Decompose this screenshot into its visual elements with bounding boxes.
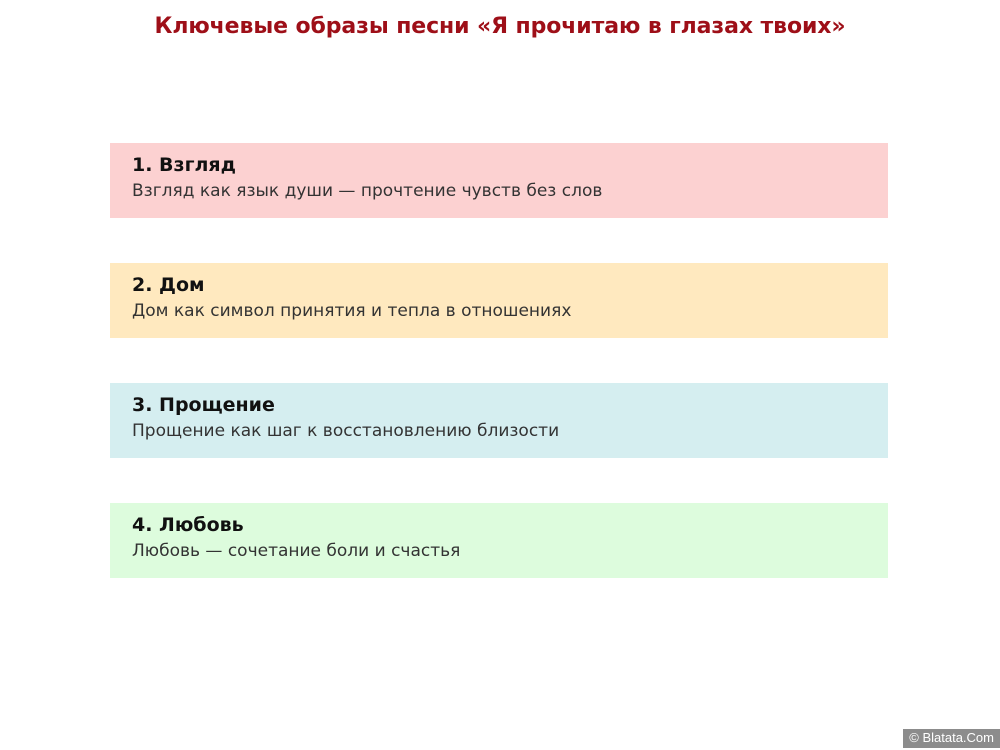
card-heading: 2. Дом xyxy=(132,273,888,297)
page-title: Ключевые образы песни «Я прочитаю в глаз… xyxy=(0,14,1000,39)
card-heading: 4. Любовь xyxy=(132,513,888,537)
list-item-lyubov[interactable]: 4. Любовь Любовь — сочетание боли и счас… xyxy=(110,503,888,578)
card-description: Взгляд как язык души — прочтение чувств … xyxy=(132,180,888,202)
list-item-vzglyad[interactable]: 1. Взгляд Взгляд как язык души — прочтен… xyxy=(110,143,888,218)
card-description: Прощение как шаг к восстановлению близос… xyxy=(132,420,888,442)
card-description: Любовь — сочетание боли и счастья xyxy=(132,540,888,562)
list-item-proshchenie[interactable]: 3. Прощение Прощение как шаг к восстанов… xyxy=(110,383,888,458)
slide-canvas: Ключевые образы песни «Я прочитаю в глаз… xyxy=(0,0,1000,750)
card-heading: 3. Прощение xyxy=(132,393,888,417)
list-item-dom[interactable]: 2. Дом Дом как символ принятия и тепла в… xyxy=(110,263,888,338)
watermark-copyright: © Blatata.Com xyxy=(903,729,1000,748)
card-heading: 1. Взгляд xyxy=(132,153,888,177)
card-description: Дом как символ принятия и тепла в отноше… xyxy=(132,300,888,322)
key-images-list: 1. Взгляд Взгляд как язык души — прочтен… xyxy=(110,143,888,578)
